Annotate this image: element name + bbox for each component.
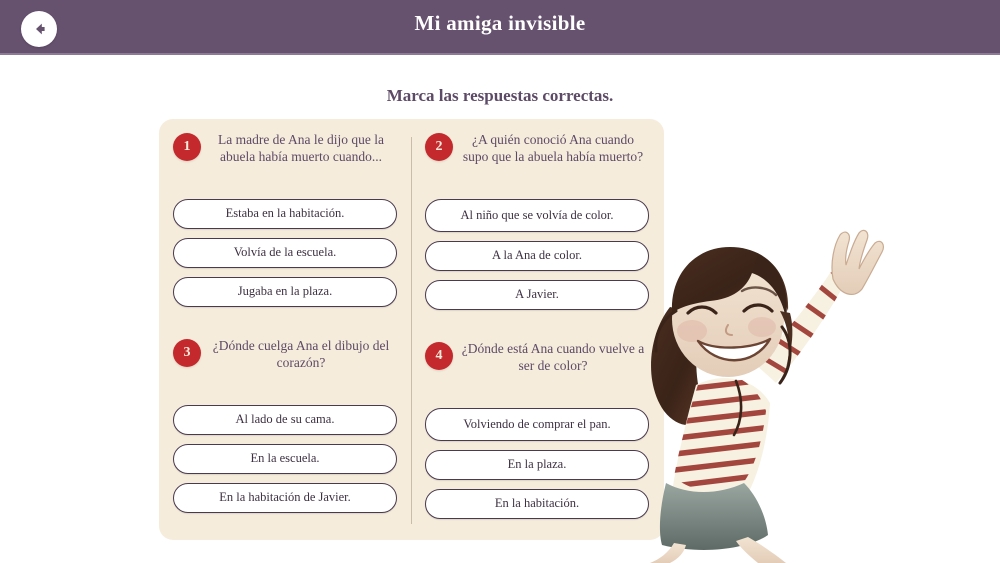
question-text-3: ¿Dónde cuelga Ana el dibujo del corazón? [201,337,397,372]
option-3-3[interactable]: En la habitación de Javier. [173,483,397,513]
option-4-1[interactable]: Volviendo de comprar el pan. [425,408,649,441]
quiz-column-right: 2 ¿A quién conoció Ana cuando supo que l… [411,119,663,540]
girl-waving-illustration [640,215,940,563]
options-list-1: Estaba en la habitación. Volvía de la es… [173,199,397,307]
question-text-2: ¿A quién conoció Ana cuando supo que la … [453,131,649,166]
options-list-3: Al lado de su cama. En la escuela. En la… [173,405,397,513]
column-divider [411,137,412,524]
quiz-panel: 1 La madre de Ana le dijo que la abuela … [159,119,664,540]
question-number-badge-3: 3 [173,339,201,367]
question-text-4: ¿Dónde está Ana cuando vuelve a ser de c… [453,340,649,375]
option-1-2[interactable]: Volvía de la escuela. [173,238,397,268]
question-block-4: 4 ¿Dónde está Ana cuando vuelve a ser de… [411,319,663,528]
app-header: Mi amiga invisible [0,0,1000,55]
option-2-2[interactable]: A la Ana de color. [425,241,649,271]
question-header-4: 4 ¿Dónde está Ana cuando vuelve a ser de… [425,340,649,402]
option-3-2[interactable]: En la escuela. [173,444,397,474]
option-3-1[interactable]: Al lado de su cama. [173,405,397,435]
question-block-1: 1 La madre de Ana le dijo que la abuela … [159,119,411,316]
question-block-3: 3 ¿Dónde cuelga Ana el dibujo del corazó… [159,316,411,522]
question-header-2: 2 ¿A quién conoció Ana cuando supo que l… [425,131,649,193]
instruction-text: Marca las respuestas correctas. [0,86,1000,106]
quiz-column-left: 1 La madre de Ana le dijo que la abuela … [159,119,411,540]
option-4-3[interactable]: En la habitación. [425,489,649,519]
page-title: Mi amiga invisible [0,11,1000,36]
question-header-3: 3 ¿Dónde cuelga Ana el dibujo del corazó… [173,337,397,399]
question-number-badge-1: 1 [173,133,201,161]
option-4-2[interactable]: En la plaza. [425,450,649,480]
question-number-badge-2: 2 [425,133,453,161]
option-2-1[interactable]: Al niño que se volvía de color. [425,199,649,232]
options-list-4: Volviendo de comprar el pan. En la plaza… [425,408,649,519]
option-2-3[interactable]: A Javier. [425,280,649,310]
option-1-3[interactable]: Jugaba en la plaza. [173,277,397,307]
question-header-1: 1 La madre de Ana le dijo que la abuela … [173,131,397,193]
question-number-badge-4: 4 [425,342,453,370]
question-block-2: 2 ¿A quién conoció Ana cuando supo que l… [411,119,663,319]
question-text-1: La madre de Ana le dijo que la abuela ha… [201,131,397,166]
options-list-2: Al niño que se volvía de color. A la Ana… [425,199,649,310]
option-1-1[interactable]: Estaba en la habitación. [173,199,397,229]
